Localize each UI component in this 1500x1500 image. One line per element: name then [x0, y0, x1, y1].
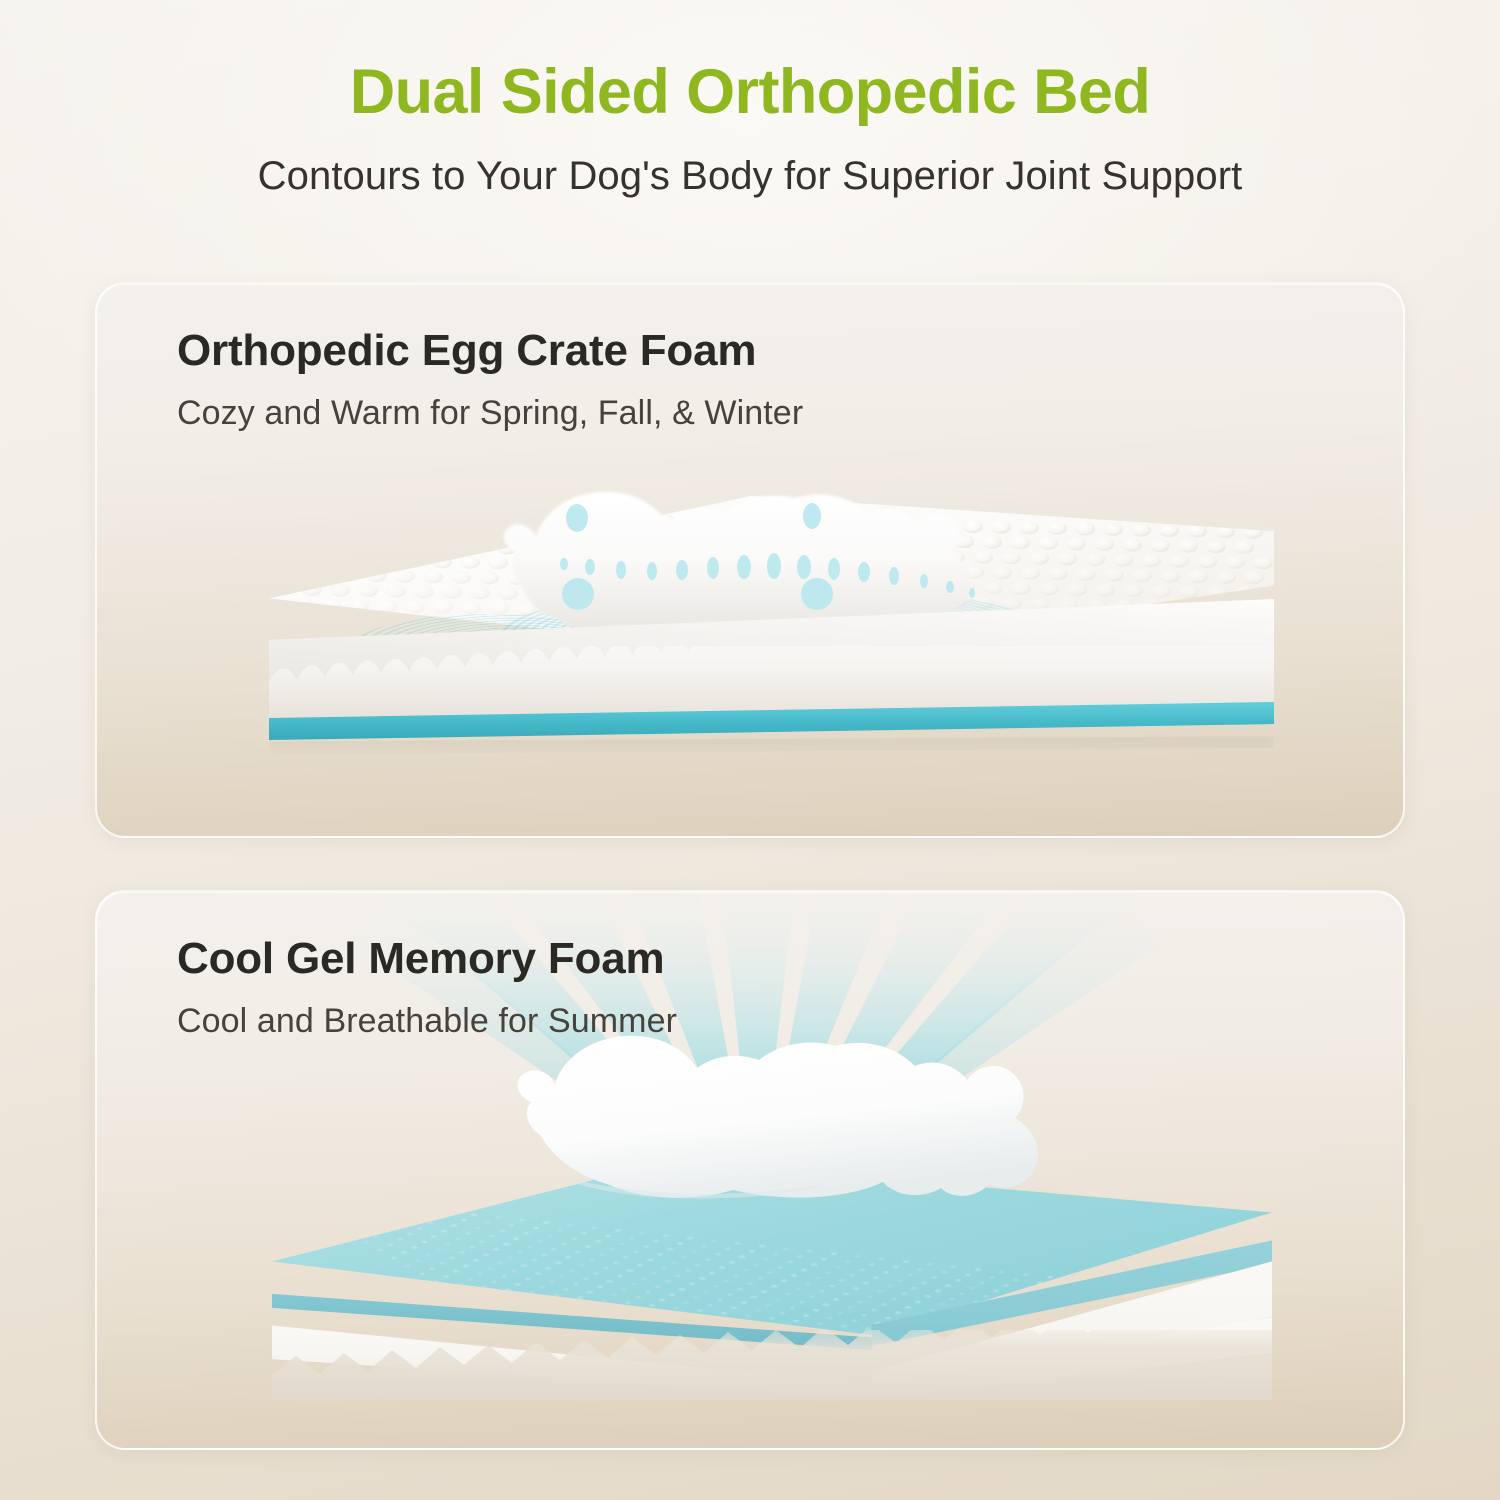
page-title: Dual Sided Orthopedic Bed [0, 58, 1500, 126]
dog-silhouette-gel-foam [497, 1014, 1137, 1214]
card-2-subtitle: Cool and Breathable for Summer [177, 1002, 677, 1041]
page-subtitle: Contours to Your Dog's Body for Superior… [0, 154, 1500, 198]
base-zigzag-edge [272, 1330, 1272, 1400]
slab-ground-shadow [269, 736, 1274, 758]
header: Dual Sided Orthopedic Bed Contours to Yo… [0, 0, 1500, 198]
card-2-title: Cool Gel Memory Foam [177, 936, 677, 982]
card-1-subtitle: Cozy and Warm for Spring, Fall, & Winter [177, 394, 803, 433]
card-1-header: Orthopedic Egg Crate Foam Cozy and Warm … [177, 328, 803, 433]
card-2-header: Cool Gel Memory Foam Cool and Breathable… [177, 936, 677, 1041]
card-1-title: Orthopedic Egg Crate Foam [177, 328, 803, 374]
feature-card-cool-gel-memory-foam: Cool Gel Memory Foam Cool and Breathable… [95, 890, 1405, 1450]
feature-card-orthopedic-egg-crate-foam: Orthopedic Egg Crate Foam Cozy and Warm … [95, 282, 1405, 838]
